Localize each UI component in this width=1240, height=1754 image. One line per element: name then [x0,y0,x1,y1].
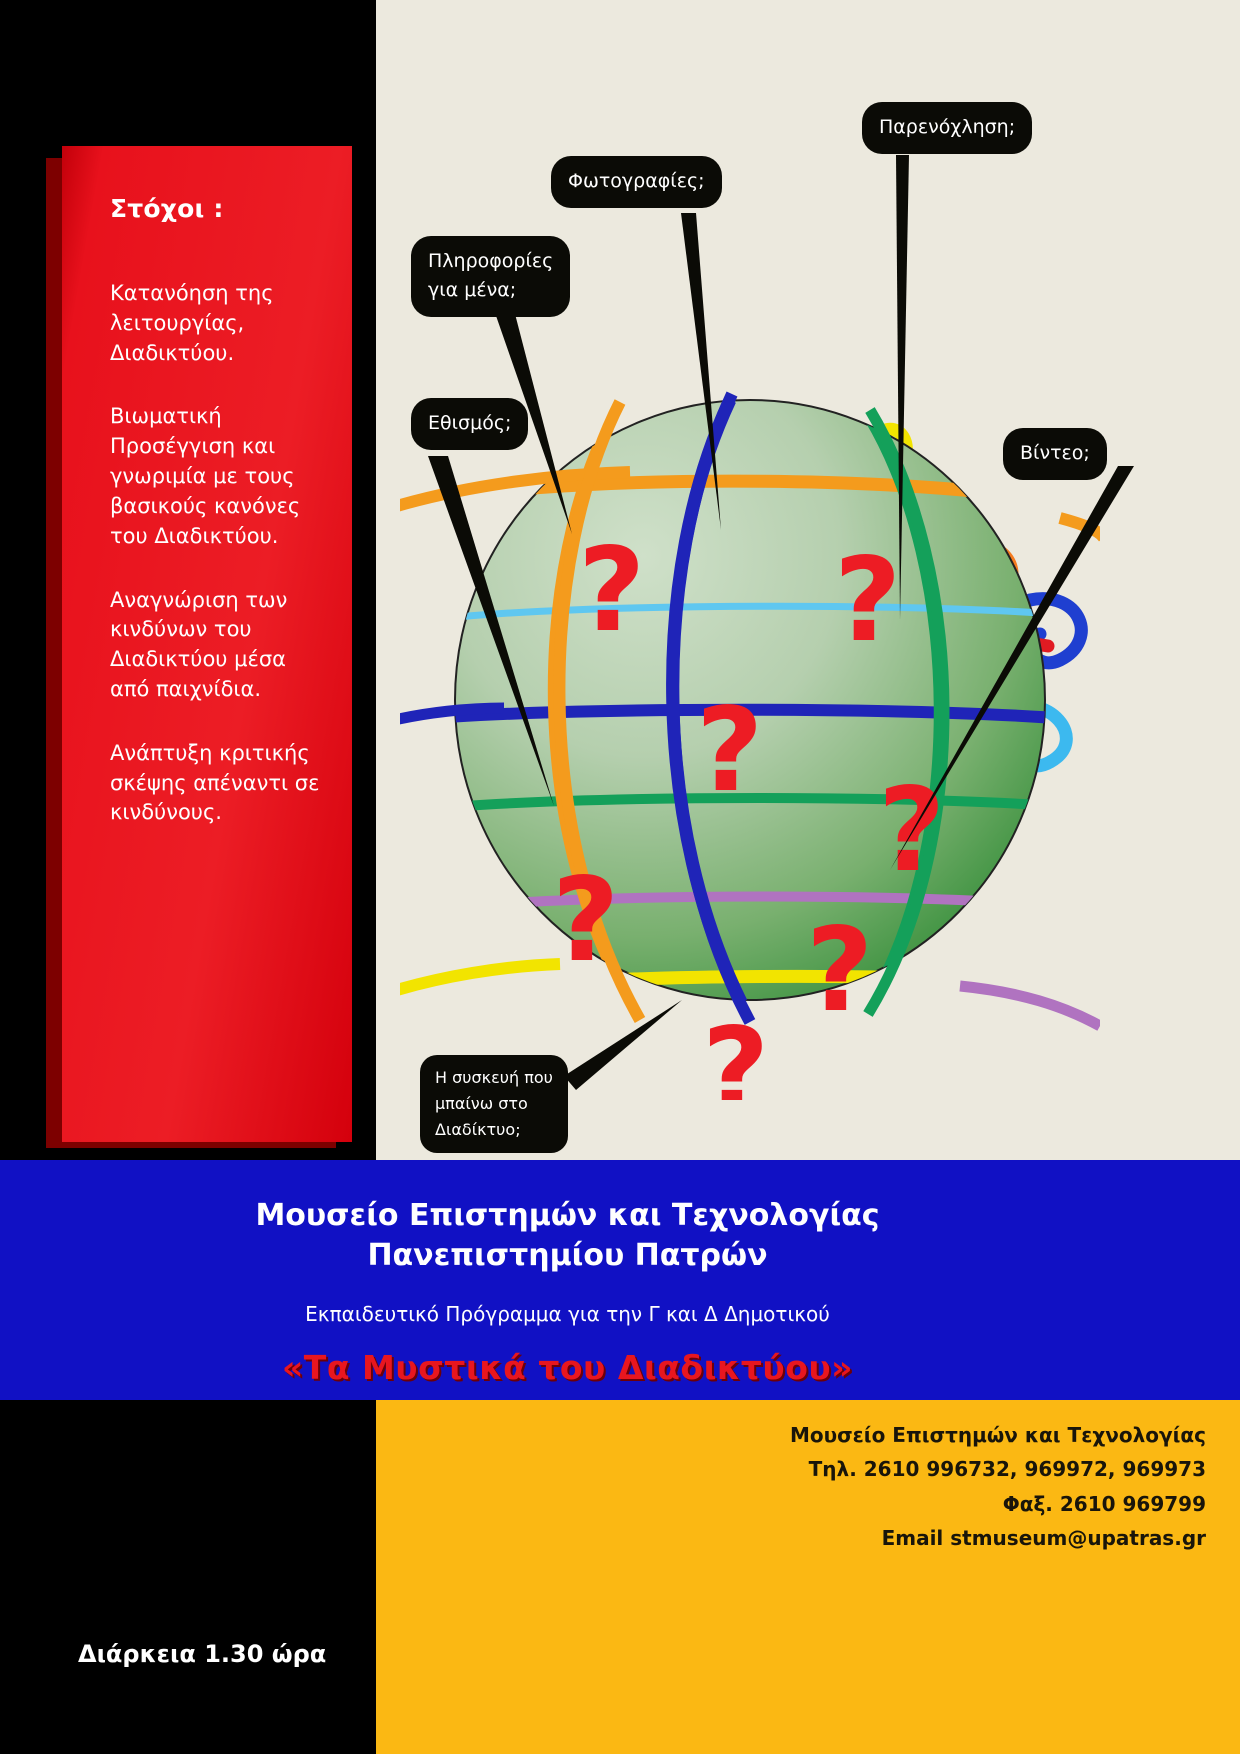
bubble-parenochlisi-text: Παρενόχληση; [879,116,1015,138]
objectives-box: Στόχοι : Κατανόηση της λειτουργίας, Διαδ… [62,146,352,1142]
objective-item-3: Αναγνώριση των κινδύνων του Διαδικτύου μ… [110,586,326,705]
contact-email[interactable]: Email stmuseum@upatras.gr [396,1521,1206,1555]
organization-line1: Μουσείο Επιστημών και Τεχνολογίας [0,1196,1135,1236]
question-mark: ? [702,1003,769,1100]
bubble-plirofories[interactable]: Πληροφορίες για μένα; [411,236,570,317]
contact-phone: Τηλ. 2610 996732, 969972, 969973 [396,1452,1206,1486]
question-mark: ? [834,533,901,668]
bubble-plirofories-line2: για μένα; [428,276,553,305]
program-subtitle: Εκπαιδευτικό Πρόγραμμα για την Γ και Δ Δ… [0,1302,1135,1326]
bubble-fotografies[interactable]: Φωτογραφίες; [551,156,722,208]
duration-label: Διάρκεια 1.30 ώρα [78,1640,326,1668]
organization-name: Μουσείο Επιστημών και Τεχνολογίας Πανεπι… [0,1196,1135,1275]
question-mark: ? [578,523,645,658]
question-mark: ? [552,853,619,988]
contact-fax: Φαξ. 2610 969799 [396,1487,1206,1521]
question-mark: ? [696,683,763,818]
bubble-plirofories-line1: Πληροφορίες [428,247,553,276]
bubble-ethismos[interactable]: Εθισμός; [411,398,528,450]
globe-illustration: ? ? ? ? ? ? ? [400,270,1100,1100]
bubble-syskevi-line1: Η συσκευή που [435,1065,553,1091]
bubble-fotografies-text: Φωτογραφίες; [568,170,705,192]
poster-root: Στόχοι : Κατανόηση της λειτουργίας, Διαδ… [0,0,1240,1754]
objectives-heading: Στόχοι : [110,194,326,223]
bubble-vinteo-text: Βίντεο; [1020,442,1090,464]
objective-item-2: Βιωματική Προσέγγιση και γνωριμία με του… [110,402,326,551]
bubble-parenochlisi[interactable]: Παρενόχληση; [862,102,1032,154]
program-title: «Τα Μυστικά του Διαδικτύου» [0,1348,1135,1387]
bubble-syskevi-line3: Διαδίκτυο; [435,1117,553,1143]
globe-svg: ? ? ? ? ? ? ? [400,270,1100,1100]
objective-item-4: Ανάπτυξη κριτικής σκέψης απέναντι σε κιν… [110,739,326,828]
contact-museum-name: Μουσείο Επιστημών και Τεχνολογίας [396,1418,1206,1452]
objective-item-1: Κατανόηση της λειτουργίας, Διαδικτύου. [110,279,326,368]
bubble-syskevi-line2: μπαίνω στο [435,1091,553,1117]
organization-line2: Πανεπιστημίου Πατρών [0,1236,1135,1276]
contact-block: Μουσείο Επιστημών και Τεχνολογίας Τηλ. 2… [396,1418,1206,1556]
question-mark: ? [878,763,945,898]
question-mark: ? [806,903,873,1038]
bubble-vinteo[interactable]: Βίντεο; [1003,428,1107,480]
bubble-ethismos-text: Εθισμός; [428,412,511,434]
bubble-syskevi[interactable]: Η συσκευή που μπαίνω στο Διαδίκτυο; [420,1055,568,1153]
